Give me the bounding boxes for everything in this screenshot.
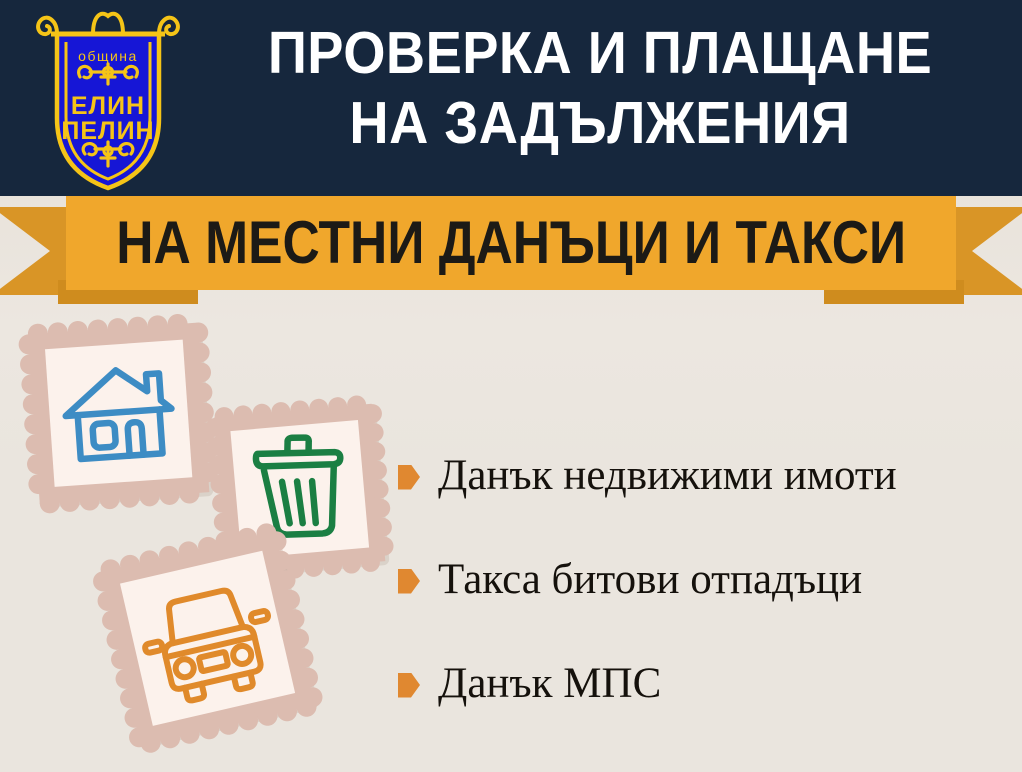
- stamp-card-vehicle-tax: [96, 524, 332, 764]
- header-bar: община ЕЛИН ПЕЛИН: [0, 0, 1022, 196]
- tax-type-list: Данък недвижими имоти Такса битови отпад…: [398, 424, 1010, 736]
- svg-text:ЕЛИН: ЕЛИН: [71, 92, 145, 120]
- list-item[interactable]: Данък недвижими имоти: [398, 424, 1010, 528]
- poster-title: ПРОВЕРКА И ПЛАЩАНЕ НА ЗАДЪЛЖЕНИЯ: [186, 18, 1014, 158]
- list-item-label: Такса битови отпадъци: [438, 556, 862, 604]
- ribbon-label: НА МЕСТНИ ДАНЪЦИ И ТАКСИ: [116, 212, 906, 274]
- title-line-2: НА ЗАДЪЛЖЕНИЯ: [219, 88, 981, 158]
- poster-canvas: община ЕЛИН ПЕЛИН: [0, 0, 1022, 772]
- list-item[interactable]: Данък МПС: [398, 632, 1010, 736]
- municipality-crest-logo: община ЕЛИН ПЕЛИН: [33, 6, 183, 192]
- ribbon-band: НА МЕСТНИ ДАНЪЦИ И ТАКСИ: [66, 196, 956, 290]
- title-line-1: ПРОВЕРКА И ПЛАЩАНЕ: [219, 18, 981, 88]
- list-item-label: Данък недвижими имоти: [438, 452, 897, 500]
- list-item-label: Данък МПС: [438, 660, 661, 708]
- list-item[interactable]: Такса битови отпадъци: [398, 528, 1010, 632]
- arrow-bullet-icon: [398, 569, 420, 594]
- arrow-bullet-icon: [398, 465, 420, 490]
- crest-icon: община ЕЛИН ПЕЛИН: [33, 6, 183, 192]
- arrow-bullet-icon: [398, 673, 420, 698]
- svg-text:община: община: [78, 48, 138, 64]
- subtitle-ribbon: НА МЕСТНИ ДАНЪЦИ И ТАКСИ: [0, 196, 1022, 314]
- stamp-card-property-tax: [14, 308, 232, 528]
